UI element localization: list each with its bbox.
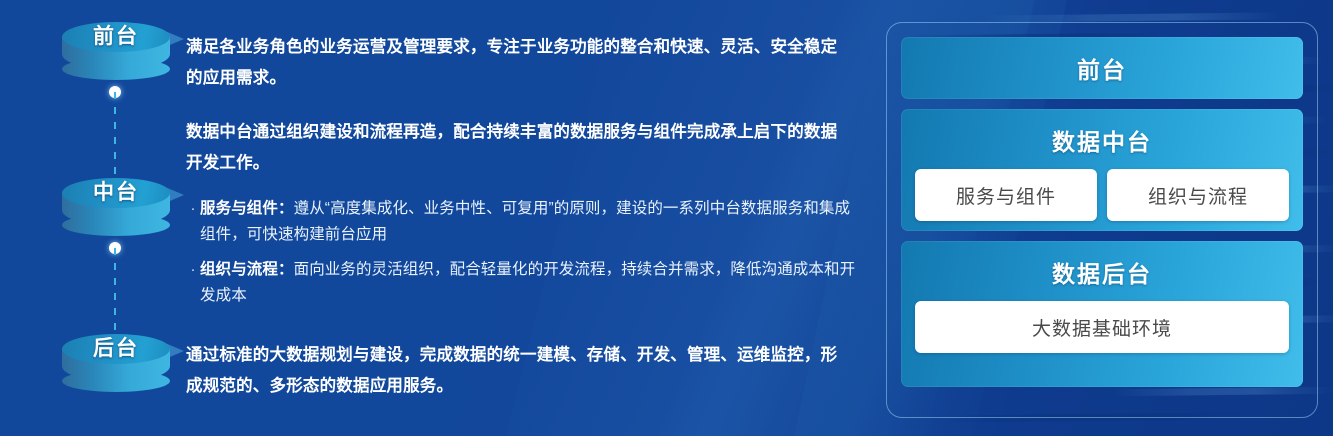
- description-back: 通过标准的大数据规划与建设，完成数据的统一建模、存储、开发、管理、运维监控，形成…: [186, 340, 846, 402]
- stage-label-middle: 中台: [62, 179, 170, 207]
- bullet-title: 服务与组件：: [200, 200, 294, 217]
- stage-cylinder-back[interactable]: 后台: [62, 334, 170, 396]
- description-front: 满足各业务角色的业务运营及管理要求，专注于业务功能的整合和快速、灵活、安全稳定的…: [186, 32, 846, 94]
- stage-label-back: 后台: [62, 335, 170, 363]
- panel-layer-back[interactable]: 数据后台 大数据基础环境: [901, 241, 1303, 387]
- panel-layer-middle-chips: 服务与组件 组织与流程: [915, 169, 1289, 221]
- panel-layer-back-title: 数据后台: [915, 255, 1289, 289]
- middle-bullet-list: · 服务与组件：遵从“高度集成化、业务中性、可复用”的原则，建设的一系列中台数据…: [186, 196, 858, 318]
- infographic-root: 前台 中台 后台 满足各业务角色的业务运营及管理要求，专注于业务功能的整合和快速…: [0, 0, 1333, 436]
- chip-bigdata-infrastructure[interactable]: 大数据基础环境: [915, 301, 1289, 353]
- description-middle: 数据中台通过组织建设和流程再造，配合持续丰富的数据服务与组件完成承上启下的数据开…: [186, 117, 846, 179]
- panel-layer-middle-title: 数据中台: [915, 123, 1289, 157]
- bullet-body: 遵从“高度集成化、业务中性、可复用”的原则，建设的一系列中台数据服务和集成组件，…: [200, 200, 850, 243]
- connector-line-front-middle: [114, 92, 116, 184]
- stage-cylinder-middle[interactable]: 中台: [62, 178, 170, 240]
- chip-organization-process[interactable]: 组织与流程: [1107, 169, 1289, 221]
- panel-layer-middle[interactable]: 数据中台 服务与组件 组织与流程: [901, 109, 1303, 231]
- panel-layer-front-title: 前台: [1077, 51, 1127, 85]
- bullet-marker-icon: ·: [186, 257, 200, 283]
- architecture-panel: 前台 数据中台 服务与组件 组织与流程 数据后台 大数据基础环境: [886, 22, 1318, 418]
- stage-label-front: 前台: [62, 23, 170, 51]
- panel-layer-front[interactable]: 前台: [901, 37, 1303, 99]
- connector-line-middle-back: [114, 248, 116, 340]
- list-item: · 组织与流程：面向业务的灵活组织，配合轻量化的开发流程，持续合并需求，降低沟通…: [186, 257, 858, 309]
- bullet-marker-icon: ·: [186, 196, 200, 222]
- stage-cylinder-front[interactable]: 前台: [62, 22, 170, 84]
- bullet-title: 组织与流程：: [200, 261, 294, 278]
- bullet-body: 面向业务的灵活组织，配合轻量化的开发流程，持续合并需求，降低沟通成本和开发成本: [200, 261, 855, 304]
- list-item: · 服务与组件：遵从“高度集成化、业务中性、可复用”的原则，建设的一系列中台数据…: [186, 196, 858, 248]
- chip-services-components[interactable]: 服务与组件: [915, 169, 1097, 221]
